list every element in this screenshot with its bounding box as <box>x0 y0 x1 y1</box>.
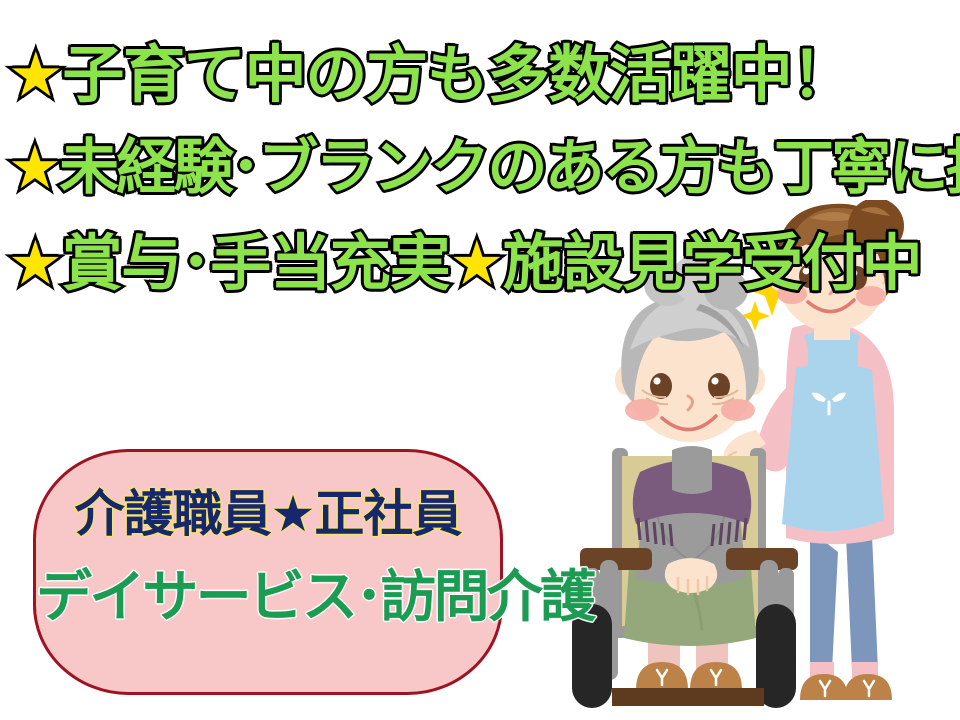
badge-line-service-type: デイサービス･訪問介護 <box>36 552 500 633</box>
headline-line-2: ★未経験･ブランクのある方も丁寧に指導します <box>8 119 960 206</box>
star-icon: ★ <box>271 485 315 543</box>
badge-line-job-title: 介護職員★正社員 <box>36 474 500 546</box>
star-icon: ★ <box>8 133 59 203</box>
star-icon: ★ <box>8 38 62 111</box>
caregiver-illustration <box>560 200 960 720</box>
badge-text-fulltime: 正社員 <box>314 485 461 543</box>
headline-line-1: ★子育て中の方も多数活躍中！ <box>8 24 852 114</box>
headline-line-3-text-a: 賞与･手当充実 <box>61 228 449 299</box>
footplate <box>612 688 764 706</box>
job-title-badge: 介護職員★正社員 デイサービス･訪問介護 <box>33 449 503 695</box>
eye <box>799 264 819 288</box>
star-icon: ★ <box>8 228 61 299</box>
badge-text-caregiver: 介護職員 <box>75 485 271 543</box>
eye <box>847 266 867 290</box>
headline-line-2-text: 未経験･ブランクのある方も丁寧に指導します <box>59 133 960 203</box>
star-icon: ★ <box>449 228 502 299</box>
headline-line-1-text: 子育て中の方も多数活躍中！ <box>62 38 852 111</box>
